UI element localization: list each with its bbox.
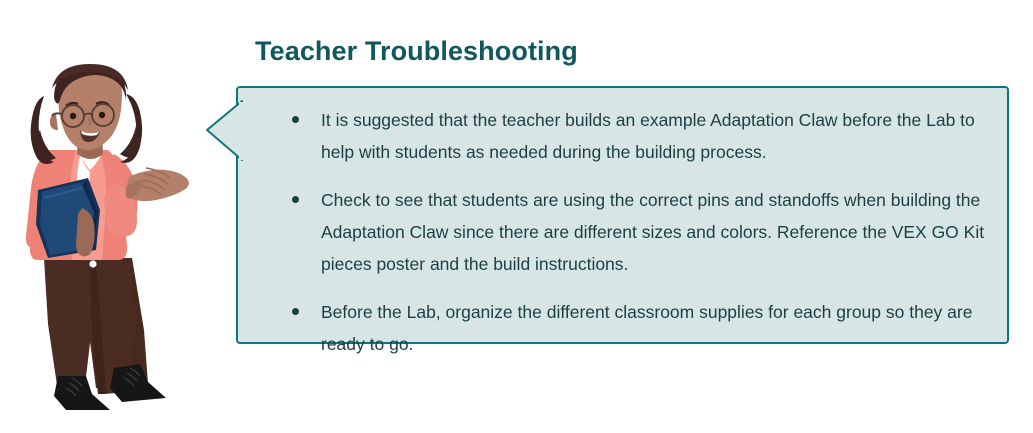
- page-title: Teacher Troubleshooting: [255, 36, 578, 67]
- list-item: It is suggested that the teacher builds …: [292, 104, 985, 168]
- callout-tail-shape: [207, 101, 242, 160]
- troubleshooting-callout: It is suggested that the teacher builds …: [236, 86, 1009, 344]
- list-item-text: Check to see that students are using the…: [321, 190, 984, 274]
- shoe-right: [110, 364, 166, 402]
- list-item-text: Before the Lab, organize the different c…: [321, 302, 972, 354]
- list-item: Before the Lab, organize the different c…: [292, 296, 985, 360]
- slide-canvas: Teacher Troubleshooting It is suggested …: [0, 0, 1033, 433]
- list-item-text: It is suggested that the teacher builds …: [321, 110, 975, 162]
- callout-tail-seam: [239, 102, 245, 160]
- bullet-dot-icon: [292, 116, 299, 123]
- bullet-dot-icon: [292, 308, 299, 315]
- troubleshooting-list: It is suggested that the teacher builds …: [238, 88, 1011, 376]
- eye-right: [99, 112, 105, 118]
- teacher-illustration: [14, 58, 194, 410]
- ear: [50, 114, 58, 130]
- callout-tail: [201, 100, 243, 162]
- list-item: Check to see that students are using the…: [292, 184, 985, 280]
- cardigan-button-2: [89, 260, 96, 267]
- eye-left: [70, 113, 76, 119]
- bullet-dot-icon: [292, 196, 299, 203]
